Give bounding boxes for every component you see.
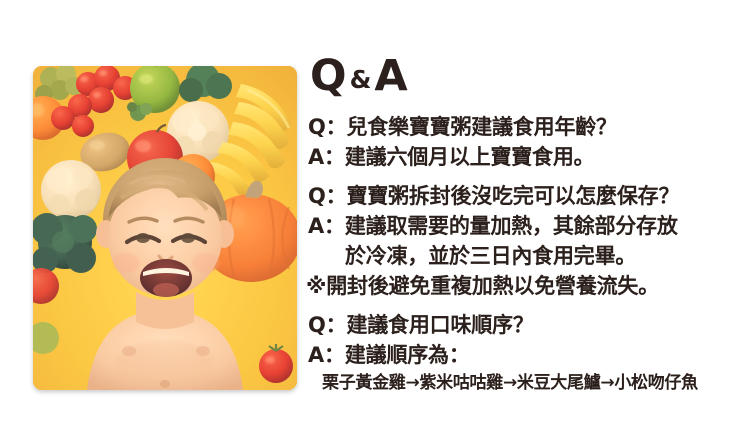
answer-storage: A：建議取需要的量加熱，其餘部分存放 [308, 211, 748, 241]
question-age: Q：兒食樂寶寶粥建議食用年齡？ [308, 112, 748, 142]
qa-block-age: Q：兒食樂寶寶粥建議食用年齡？ A：建議六個月以上寶寶食用。 [308, 112, 748, 172]
answer-age: A：建議六個月以上寶寶食用。 [308, 142, 748, 172]
heading-ampersand: & [347, 65, 375, 94]
heading-a: A [374, 51, 407, 101]
heading-q: Q [310, 51, 347, 101]
qa-page: Q&A Q：兒食樂寶寶粥建議食用年齡？ A：建議六個月以上寶寶食用。 Q：寶寶粥… [0, 0, 750, 439]
answer-order: A：建議順序為： [308, 340, 748, 370]
answer-storage-continued: 於冷凍，並於三日內食用完畢。 [308, 241, 748, 271]
baby-food-photo [33, 66, 297, 390]
flavor-sequence: 栗子黃金雞→紫米咕咕雞→米豆大尾鱸→小松吻仔魚 [308, 370, 748, 397]
baby-photo-illustration [33, 66, 297, 390]
qa-block-storage: Q：寶寶粥拆封後沒吃完可以怎麼保存？ A：建議取需要的量加熱，其餘部分存放 於冷… [308, 181, 748, 301]
qa-panel: Q&A Q：兒食樂寶寶粥建議食用年齡？ A：建議六個月以上寶寶食用。 Q：寶寶粥… [308, 52, 748, 397]
storage-note: ※開封後避免重複加熱以免營養流失。 [306, 271, 748, 301]
qa-block-order: Q：建議食用口味順序？ A：建議順序為： 栗子黃金雞→紫米咕咕雞→米豆大尾鱸→小… [308, 310, 748, 397]
question-order: Q：建議食用口味順序？ [308, 310, 748, 340]
question-storage: Q：寶寶粥拆封後沒吃完可以怎麼保存？ [308, 181, 748, 211]
page-title: Q&A [310, 52, 748, 106]
